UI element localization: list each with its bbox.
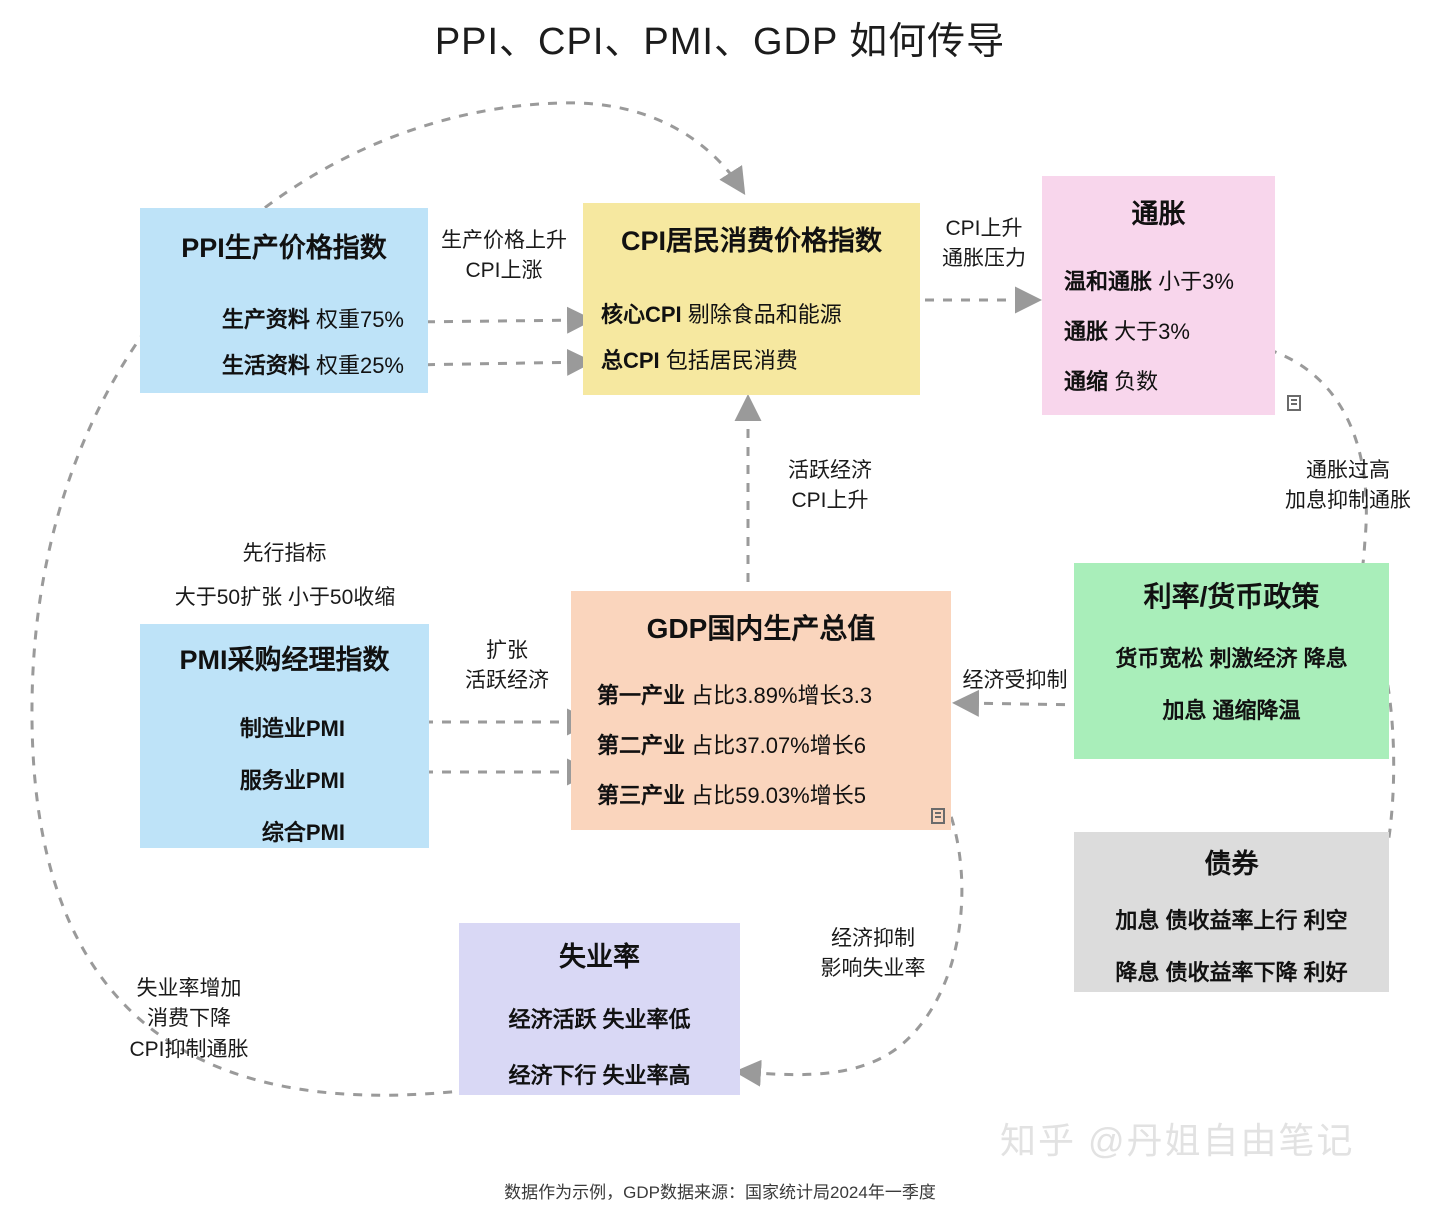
node-bonds-row: 降息 债收益率下降 利好 (1115, 955, 1347, 987)
node-rates-title: 利率/货币政策 (1074, 575, 1389, 615)
node-cpi-row: 核心CPI 剔除食品和能源 (601, 297, 842, 329)
node-rates-rows: 货币宽松 刺激经济 降息 加息 通缩降温 (1074, 631, 1389, 735)
edge-label-ppi-to-cpi: 生产价格上升CPI上涨 (428, 226, 580, 287)
node-inflation-rows: 温和通胀 小于3% 通胀 大于3% 通缩 负数 (1042, 255, 1275, 405)
node-bonds-title: 债券 (1074, 842, 1389, 881)
pmi-note-leading-indicator: 先行指标 (140, 538, 429, 571)
node-unemployment[interactable]: 失业率 经济活跃 失业率低 经济下行 失业率高 (459, 923, 740, 1095)
edge-label-gdp-to-unemployment: 经济抑制影响失业率 (800, 924, 946, 985)
edge-label-gdp-to-cpi: 活跃经济CPI上升 (760, 456, 900, 517)
edge-label-pmi-to-gdp: 扩张活跃经济 (442, 636, 572, 697)
node-inflation[interactable]: 通胀 温和通胀 小于3% 通胀 大于3% 通缩 负数 (1042, 176, 1275, 415)
node-cpi-rows: 核心CPI 剔除食品和能源 总CPI 包括居民消费 (583, 290, 920, 382)
node-pmi-row: 制造业PMI (240, 711, 345, 743)
node-cpi-title: CPI居民消费价格指数 (583, 219, 920, 258)
node-ppi-row: 生产资料 权重75% (222, 302, 404, 334)
edge-label-inflation-to-rates: 通胀过高加息抑制通胀 (1258, 456, 1438, 517)
arrow-ppi-cons-to-total-cpi (408, 362, 588, 365)
arrow-ppi-cap-to-core-cpi (408, 320, 588, 322)
node-ppi-title: PPI生产价格指数 (140, 226, 428, 265)
page-title: PPI、CPI、PMI、GDP 如何传导 (0, 10, 1440, 65)
node-inflation-row: 通缩 负数 (1064, 364, 1158, 396)
node-rates-row: 加息 通缩降温 (1162, 693, 1300, 725)
node-gdp-row: 第二产业 占比37.07%增长6 (597, 728, 866, 760)
edge-label-cpi-to-inflation: CPI上升通胀压力 (925, 214, 1043, 275)
node-inflation-row: 温和通胀 小于3% (1064, 264, 1234, 296)
node-cpi[interactable]: CPI居民消费价格指数 核心CPI 剔除食品和能源 总CPI 包括居民消费 (583, 203, 920, 395)
node-pmi[interactable]: PMI采购经理指数 制造业PMI 服务业PMI 综合PMI (140, 624, 429, 848)
node-unemployment-rows: 经济活跃 失业率低 经济下行 失业率高 (459, 990, 740, 1102)
node-gdp-rows: 第一产业 占比3.89%增长3.3 第二产业 占比37.07%增长6 第三产业 … (571, 669, 951, 819)
node-gdp-row: 第一产业 占比3.89%增长3.3 (597, 678, 872, 710)
note-corner-icon (1287, 395, 1301, 411)
node-gdp[interactable]: GDP国内生产总值 第一产业 占比3.89%增长3.3 第二产业 占比37.07… (571, 591, 951, 830)
edge-label-rates-to-gdp: 经济受抑制 (952, 666, 1078, 696)
node-bonds-row: 加息 债收益率上行 利空 (1115, 903, 1347, 935)
watermark: 知乎 @丹姐自由笔记 (1000, 1112, 1430, 1164)
node-inflation-title: 通胀 (1042, 192, 1275, 231)
edge-label-unemployment-to-cpi: 失业率增加消费下降CPI抑制通胀 (96, 974, 282, 1065)
node-pmi-row: 服务业PMI (240, 763, 345, 795)
node-ppi[interactable]: PPI生产价格指数 生产资料 权重75% 生活资料 权重25% (140, 208, 428, 393)
node-ppi-rows: 生产资料 权重75% 生活资料 权重25% (140, 295, 428, 387)
node-gdp-row: 第三产业 占比59.03%增长5 (597, 778, 866, 810)
node-unemployment-row: 经济活跃 失业率低 (508, 1002, 690, 1034)
node-cpi-row: 总CPI 包括居民消费 (601, 343, 798, 375)
node-bonds-rows: 加息 债收益率上行 利空 降息 债收益率下降 利好 (1074, 893, 1389, 997)
node-ppi-row: 生活资料 权重25% (222, 348, 404, 380)
footnote: 数据作为示例，GDP数据来源：国家统计局2024年一季度 (0, 1178, 1440, 1203)
node-pmi-rows: 制造业PMI 服务业PMI 综合PMI (140, 701, 429, 857)
node-rates-row: 货币宽松 刺激经济 降息 (1115, 641, 1347, 673)
node-unemployment-row: 经济下行 失业率高 (508, 1058, 690, 1090)
node-pmi-title: PMI采购经理指数 (140, 638, 429, 677)
pmi-note-threshold: 大于50扩张 小于50收缩 (110, 582, 460, 615)
node-rates[interactable]: 利率/货币政策 货币宽松 刺激经济 降息 加息 通缩降温 (1074, 563, 1389, 759)
node-gdp-title: GDP国内生产总值 (571, 607, 951, 647)
node-bonds[interactable]: 债券 加息 债收益率上行 利空 降息 债收益率下降 利好 (1074, 832, 1389, 992)
node-inflation-row: 通胀 大于3% (1064, 314, 1190, 346)
diagram-canvas: PPI、CPI、PMI、GDP 如何传导 (0, 0, 1440, 1218)
note-corner-icon (931, 808, 945, 824)
node-unemployment-title: 失业率 (459, 935, 740, 974)
node-pmi-row: 综合PMI (262, 815, 345, 847)
